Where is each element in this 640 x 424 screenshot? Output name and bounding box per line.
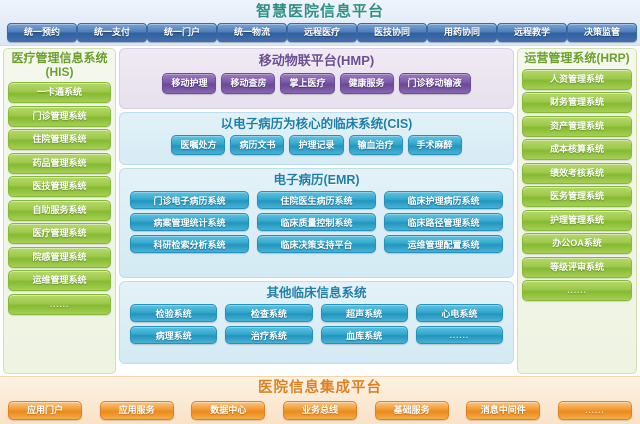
his-item-medical-tech-management[interactable]: 医技管理系统 [8, 176, 111, 197]
hrp-item-performance-appraisal[interactable]: 绩效考核系统 [522, 163, 632, 184]
his-item-medical-management[interactable]: 医疗管理系统 [8, 223, 111, 244]
hmp-item-outpatient-mobile-infusion[interactable]: 门诊移动输液 [399, 73, 471, 94]
hrp-item-finance-management[interactable]: 财务管理系统 [522, 92, 632, 113]
hmp-item-mobile-ward-round[interactable]: 移动查房 [221, 73, 275, 94]
hmp-item-health-service[interactable]: 健康服务 [340, 73, 394, 94]
other-item-more[interactable]: ...... [416, 326, 503, 344]
header-bar: 智慧医院信息平台 统一预约 统一支付 统一门户 统一物流 远程医疗 医技协同 用… [0, 0, 640, 46]
cis-item-transfusion-therapy[interactable]: 输血治疗 [349, 135, 403, 155]
panel-hmp-title: 移动物联平台(HMP) [124, 51, 509, 71]
his-item-self-service[interactable]: 自助服务系统 [8, 200, 111, 221]
panel-hrp-title: 运营管理系统(HRP) [524, 52, 629, 66]
hmp-item-palm-medical[interactable]: 掌上医疗 [280, 73, 334, 94]
emr-item-outpatient-emr[interactable]: 门诊电子病历系统 [130, 191, 249, 209]
header-button-unified-payment[interactable]: 统一支付 [77, 23, 147, 42]
footer-bar: 医院信息集成平台 应用门户 应用服务 数据中心 业务总线 基础服务 消息中间件 … [0, 376, 640, 424]
footer-button-basic-service[interactable]: 基础服务 [375, 401, 449, 420]
footer-button-app-portal[interactable]: 应用门户 [8, 401, 82, 420]
other-item-examination[interactable]: 检查系统 [225, 304, 312, 322]
footer-button-row: 应用门户 应用服务 数据中心 业务总线 基础服务 消息中间件 ...... [0, 401, 640, 420]
hrp-item-hr-management[interactable]: 人资管理系统 [522, 69, 632, 90]
emr-item-medical-record-statistics[interactable]: 病案管理统计系统 [130, 213, 249, 231]
header-button-row: 统一预约 统一支付 统一门户 统一物流 远程医疗 医技协同 用药协同 远程教学 … [0, 23, 640, 42]
header-button-telemedicine[interactable]: 远程医疗 [287, 23, 357, 42]
hrp-item-nursing-management[interactable]: 护理管理系统 [522, 210, 632, 231]
panel-emr: 电子病历(EMR) 门诊电子病历系统 住院医生病历系统 临床护理病历系统 病案管… [119, 168, 514, 278]
emr-item-clinical-pathway-management[interactable]: 临床路径管理系统 [384, 213, 503, 231]
emr-item-clinical-nursing-emr[interactable]: 临床护理病历系统 [384, 191, 503, 209]
panel-his-item-list: 一卡通系统 门诊管理系统 住院管理系统 药品管理系统 医技管理系统 自助服务系统… [4, 82, 115, 370]
header-button-unified-portal[interactable]: 统一门户 [147, 23, 217, 42]
other-item-blood-bank[interactable]: 血库系统 [321, 326, 408, 344]
header-button-unified-appointment[interactable]: 统一预约 [7, 23, 77, 42]
panel-his-title: 医疗管理信息系统(HIS) [4, 52, 115, 79]
main-content: 医疗管理信息系统(HIS) 一卡通系统 门诊管理系统 住院管理系统 药品管理系统… [0, 46, 640, 376]
panel-hmp: 移动物联平台(HMP) 移动护理 移动查房 掌上医疗 健康服务 门诊移动输液 [119, 48, 514, 109]
his-item-card-system[interactable]: 一卡通系统 [8, 82, 111, 103]
hrp-item-medical-affairs[interactable]: 医务管理系统 [522, 186, 632, 207]
other-item-laboratory[interactable]: 检验系统 [130, 304, 217, 322]
panel-cis: 以电子病历为核心的临床系统(CIS) 医嘱处方 病历文书 护理记录 输血治疗 手… [119, 112, 514, 165]
hrp-item-cost-accounting[interactable]: 成本核算系统 [522, 139, 632, 160]
header-button-medical-tech-collaboration[interactable]: 医技协同 [357, 23, 427, 42]
emr-item-clinical-decision-support[interactable]: 临床决策支持平台 [257, 235, 376, 253]
panel-hrp-item-list: 人资管理系统 财务管理系统 资产管理系统 成本核算系统 绩效考核系统 医务管理系… [518, 69, 636, 371]
other-item-ecg[interactable]: 心电系统 [416, 304, 503, 322]
his-item-more[interactable]: ...... [8, 294, 111, 315]
cis-item-orders-prescription[interactable]: 医嘱处方 [171, 135, 225, 155]
other-item-ultrasound[interactable]: 超声系统 [321, 304, 408, 322]
footer-button-service-bus[interactable]: 业务总线 [283, 401, 357, 420]
cis-item-nursing-record[interactable]: 护理记录 [289, 135, 343, 155]
his-item-outpatient-management[interactable]: 门诊管理系统 [8, 106, 111, 127]
header-button-decision-supervision[interactable]: 决策监管 [567, 23, 637, 42]
panel-cis-item-row: 医嘱处方 病历文书 护理记录 输血治疗 手术麻醉 [124, 135, 509, 155]
emr-item-inpatient-doctor-emr[interactable]: 住院医生病历系统 [257, 191, 376, 209]
panel-hrp: 运营管理系统(HRP) 人资管理系统 财务管理系统 资产管理系统 成本核算系统 … [517, 48, 637, 374]
emr-item-clinical-quality-control[interactable]: 临床质量控制系统 [257, 213, 376, 231]
hrp-item-grade-review[interactable]: 等级评审系统 [522, 257, 632, 278]
panel-his: 医疗管理信息系统(HIS) 一卡通系统 门诊管理系统 住院管理系统 药品管理系统… [3, 48, 116, 374]
emr-item-research-retrieval-analysis[interactable]: 科研检索分析系统 [130, 235, 249, 253]
smart-hospital-architecture-diagram: 智慧医院信息平台 统一预约 统一支付 统一门户 统一物流 远程医疗 医技协同 用… [0, 0, 640, 424]
footer-button-message-middleware[interactable]: 消息中间件 [466, 401, 540, 420]
header-button-remote-teaching[interactable]: 远程教学 [497, 23, 567, 42]
page-title: 智慧医院信息平台 [0, 0, 640, 22]
his-item-ops-management[interactable]: 运维管理系统 [8, 270, 111, 291]
other-item-treatment[interactable]: 治疗系统 [225, 326, 312, 344]
hrp-item-more[interactable]: ...... [522, 280, 632, 301]
header-button-unified-logistics[interactable]: 统一物流 [217, 23, 287, 42]
panel-emr-title: 电子病历(EMR) [124, 171, 509, 190]
header-button-medication-collaboration[interactable]: 用药协同 [427, 23, 497, 42]
panel-emr-item-grid: 门诊电子病历系统 住院医生病历系统 临床护理病历系统 病案管理统计系统 临床质量… [124, 190, 509, 253]
hmp-item-mobile-nursing[interactable]: 移动护理 [162, 73, 216, 94]
hrp-item-office-oa[interactable]: 办公OA系统 [522, 233, 632, 254]
emr-item-ops-config-management[interactable]: 运维管理配置系统 [384, 235, 503, 253]
his-item-inpatient-management[interactable]: 住院管理系统 [8, 129, 111, 150]
hrp-item-asset-management[interactable]: 资产管理系统 [522, 116, 632, 137]
other-item-pathology[interactable]: 病理系统 [130, 326, 217, 344]
center-column: 移动物联平台(HMP) 移动护理 移动查房 掌上医疗 健康服务 门诊移动输液 以… [118, 46, 515, 376]
panel-cis-title: 以电子病历为核心的临床系统(CIS) [124, 115, 509, 133]
cis-item-surgery-anesthesia[interactable]: 手术麻醉 [408, 135, 462, 155]
panel-other-clinical-title: 其他临床信息系统 [124, 284, 509, 303]
his-item-infection-control[interactable]: 院感管理系统 [8, 247, 111, 268]
footer-button-more[interactable]: ...... [558, 401, 632, 420]
panel-hmp-item-row: 移动护理 移动查房 掌上医疗 健康服务 门诊移动输液 [124, 73, 509, 94]
cis-item-medical-record-document[interactable]: 病历文书 [230, 135, 284, 155]
footer-title: 医院信息集成平台 [0, 377, 640, 400]
footer-button-app-service[interactable]: 应用服务 [100, 401, 174, 420]
panel-other-clinical: 其他临床信息系统 检验系统 检查系统 超声系统 心电系统 病理系统 治疗系统 血… [119, 281, 514, 364]
panel-other-clinical-item-grid: 检验系统 检查系统 超声系统 心电系统 病理系统 治疗系统 血库系统 .....… [124, 303, 509, 344]
footer-button-data-center[interactable]: 数据中心 [191, 401, 265, 420]
his-item-drug-management[interactable]: 药品管理系统 [8, 153, 111, 174]
